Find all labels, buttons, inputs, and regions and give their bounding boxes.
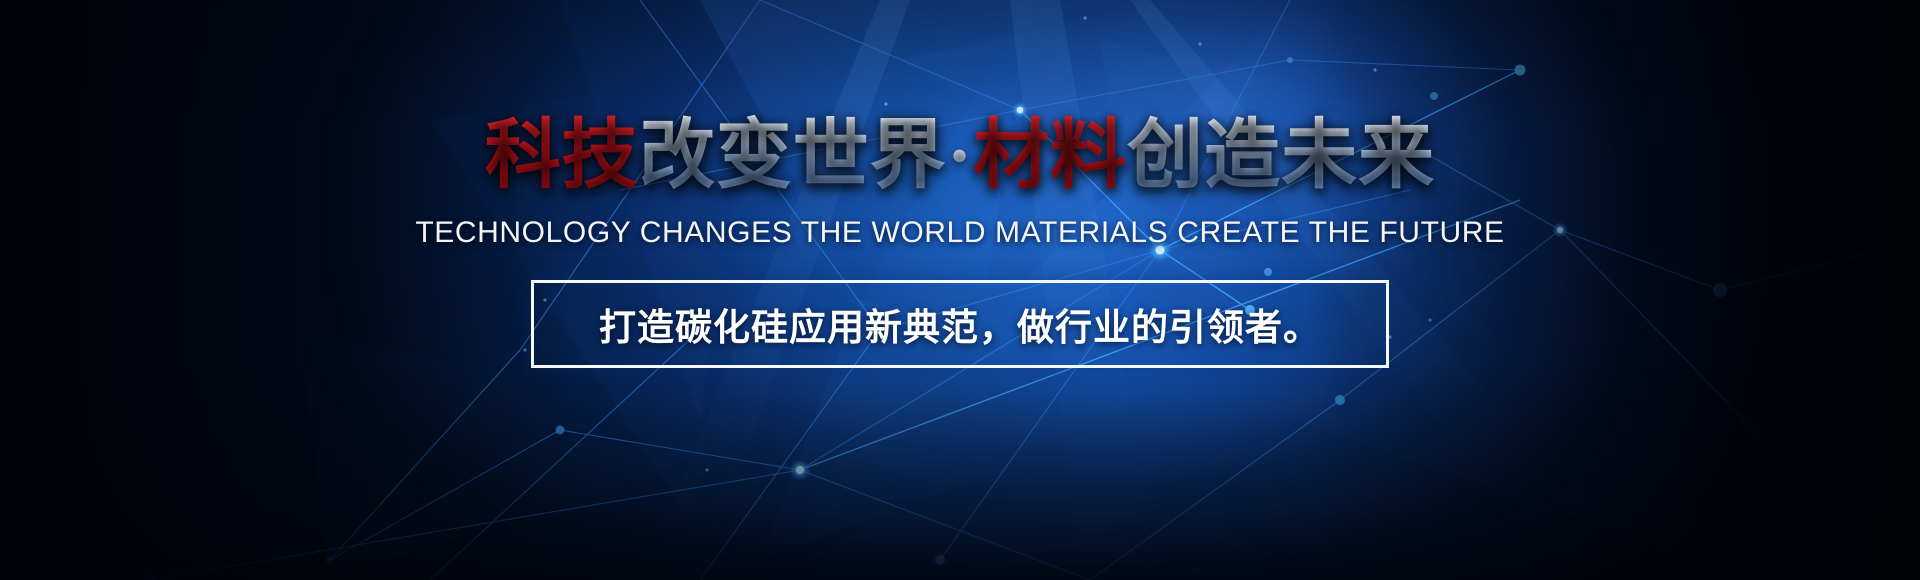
- slogan-text: 打造碳化硅应用新典范，做行业的引领者。: [599, 297, 1321, 351]
- headline-segment-changes-world: 改变世界: [639, 114, 947, 198]
- banner-subheadline: TECHNOLOGY CHANGES THE WORLD MATERIALS C…: [415, 216, 1504, 250]
- headline-segment-materials: 材料: [973, 114, 1127, 198]
- headline-segment-technology: 科技: [485, 114, 639, 198]
- banner-content: 科技改变世界·材料创造未来 TECHNOLOGY CHANGES THE WOR…: [0, 0, 1920, 580]
- headline-separator-dot: ·: [947, 114, 973, 198]
- hero-banner: 科技改变世界·材料创造未来 TECHNOLOGY CHANGES THE WOR…: [0, 0, 1920, 580]
- banner-headline: 科技改变世界·材料创造未来: [485, 118, 1435, 194]
- headline-segment-create-future: 创造未来: [1127, 114, 1435, 198]
- slogan-box: 打造碳化硅应用新典范，做行业的引领者。: [531, 280, 1389, 368]
